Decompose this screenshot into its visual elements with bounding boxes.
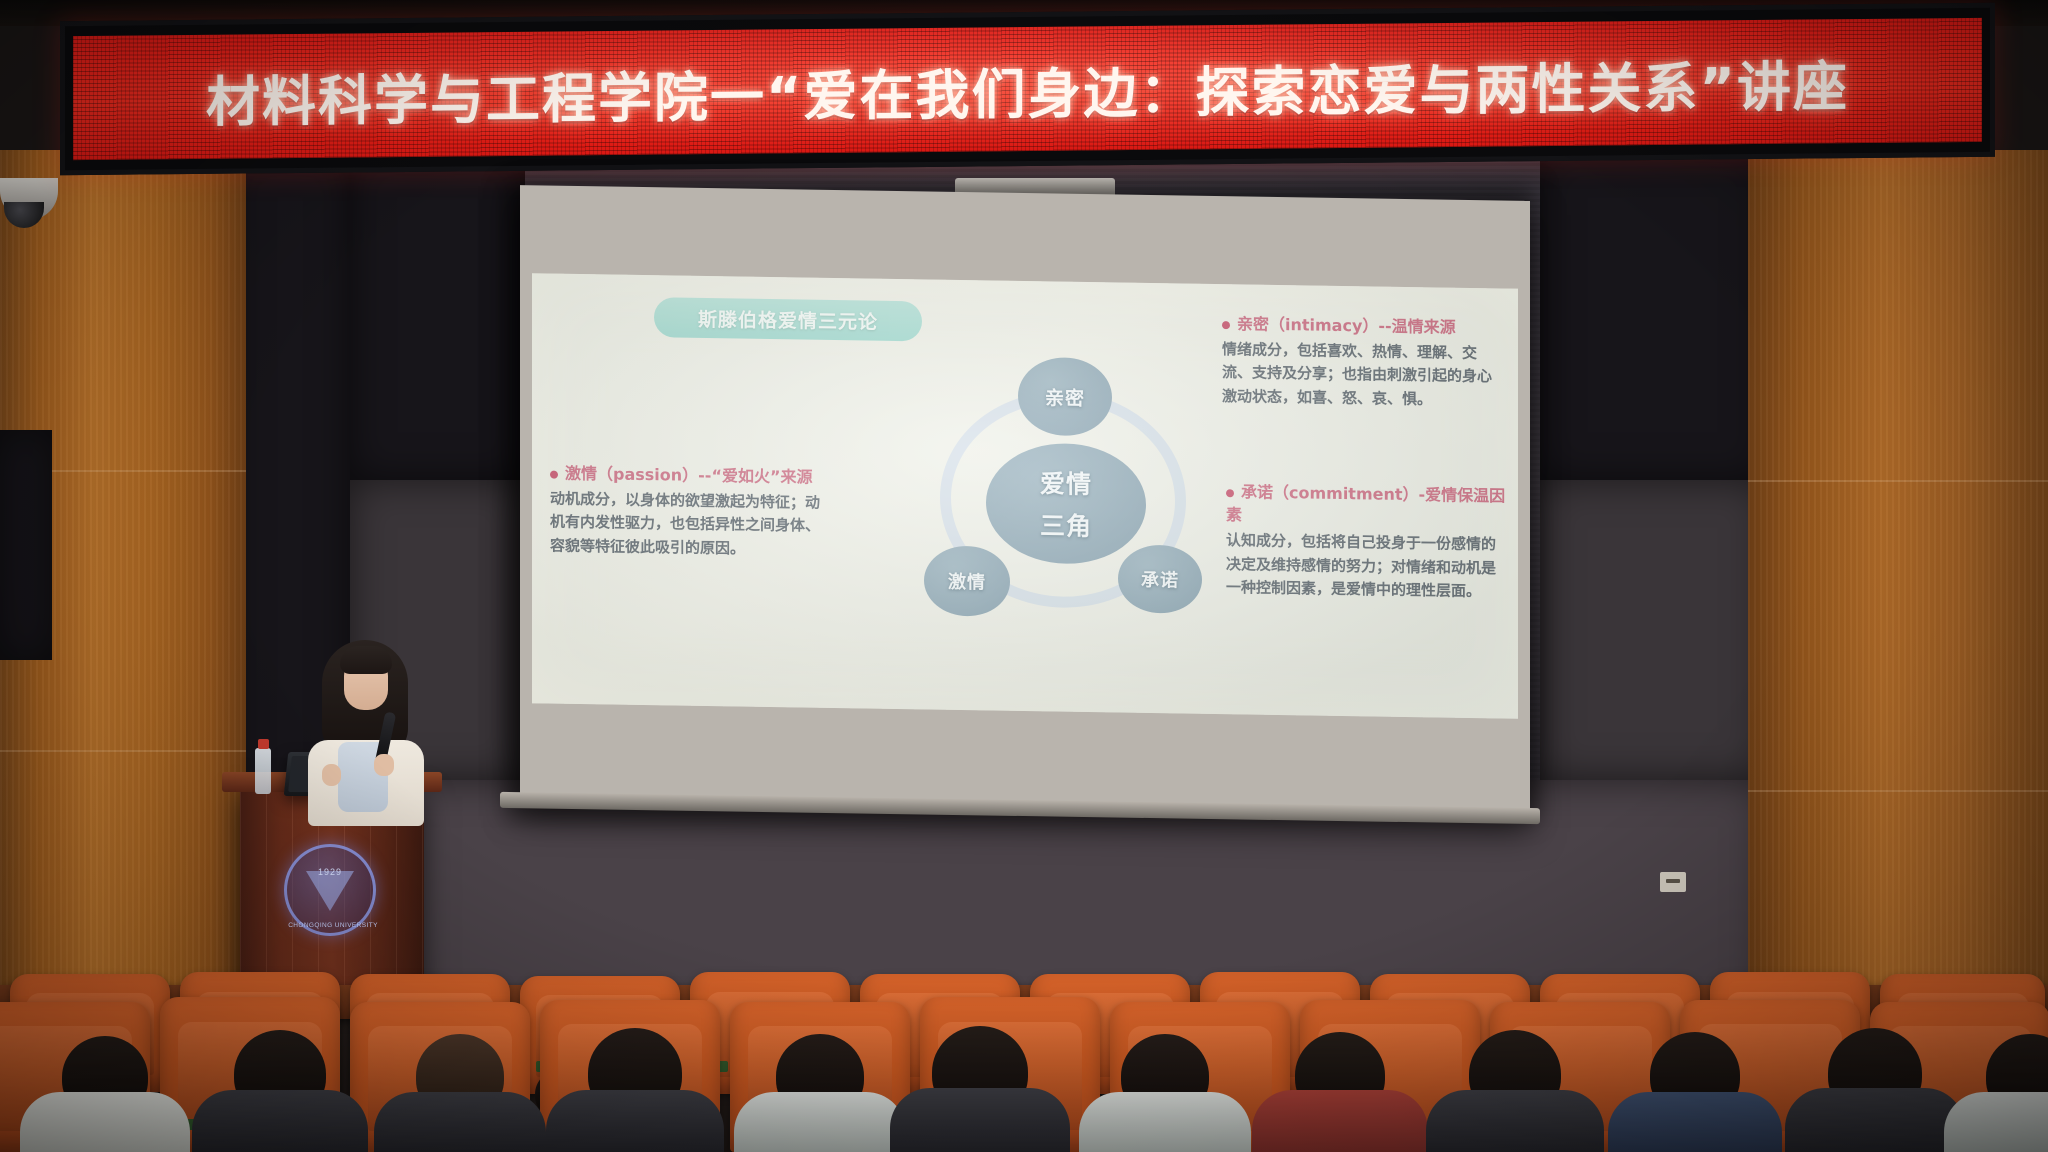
person-shoulders xyxy=(890,1088,1070,1152)
audience-member xyxy=(1440,1000,1590,1152)
slide-block-intimacy: 亲密（intimacy）--温情来源 情绪成分，包括喜欢、热情、理解、交流、支持… xyxy=(1222,312,1502,412)
person-shoulders xyxy=(1079,1092,1251,1152)
audience-member xyxy=(1265,1002,1415,1152)
presentation-slide: 斯滕伯格爱情三元论 爱情 三角 亲密 激情 承诺 亲密（intimacy）--温… xyxy=(532,273,1518,718)
university-emblem: 1929 CHONGQING UNIVERSITY xyxy=(284,844,376,936)
water-bottle xyxy=(255,748,271,794)
led-banner: 材料科学与工程学院一“爱在我们身边：探索恋爱与两性关系”讲座 xyxy=(60,3,1995,176)
audience-member xyxy=(385,1007,535,1152)
person-shoulders xyxy=(1785,1088,1965,1152)
block-body: 动机成分，以身体的欲望激起为特征；动机有内发性驱力，也包括异性之间身体、容貌等特… xyxy=(550,488,832,562)
diagram-node-commitment: 承诺 xyxy=(1118,544,1202,613)
diagram-center-line1: 爱情 xyxy=(1040,464,1092,501)
slide-block-passion: 激情（passion）--“爱如火”来源 动机成分，以身体的欲望激起为特征；动机… xyxy=(550,462,832,562)
person-shoulders xyxy=(20,1092,190,1152)
emblem-year: 1929 xyxy=(302,867,358,877)
love-triangle-diagram: 爱情 三角 亲密 激情 承诺 xyxy=(912,337,1212,642)
emblem-triangle-icon xyxy=(306,871,354,911)
block-body: 情绪成分，包括喜欢、热情、理解、交流、支持及分享；也指由刺激引起的身心激动状态，… xyxy=(1222,338,1502,412)
person-shoulders xyxy=(1944,1092,2048,1152)
emblem-inner: 1929 xyxy=(302,865,358,915)
slide-block-commitment: 承诺（commitment）-爱情保温因素 认知成分，包括将自己投身于一份感情的… xyxy=(1226,480,1506,604)
slide-title-text: 斯滕伯格爱情三元论 xyxy=(698,304,878,334)
projection-screen: 斯滕伯格爱情三元论 爱情 三角 亲密 激情 承诺 亲密（intimacy）--温… xyxy=(520,185,1530,818)
led-banner-screen: 材料科学与工程学院一“爱在我们身边：探索恋爱与两性关系”讲座 xyxy=(73,18,1982,160)
bullet-dot-icon xyxy=(550,470,558,478)
block-heading: 激情（passion）--“爱如火”来源 xyxy=(550,462,832,490)
wood-seam xyxy=(1748,480,2048,482)
wood-seam xyxy=(0,750,246,752)
bottle-cap xyxy=(258,739,269,749)
led-banner-text: 材料科学与工程学院一“爱在我们身边：探索恋爱与两性关系”讲座 xyxy=(206,42,1849,137)
person-shoulders xyxy=(1426,1090,1604,1152)
wood-wall-right xyxy=(1748,150,2048,1030)
audience-member xyxy=(905,997,1055,1152)
block-heading-text: 承诺（commitment）-爱情保温因素 xyxy=(1226,482,1505,524)
diagram-center-line2: 三角 xyxy=(1040,506,1092,543)
audience-member xyxy=(1090,1004,1240,1152)
audience-member xyxy=(30,1012,180,1152)
speaker-hand-left xyxy=(322,764,341,786)
acoustic-panel xyxy=(1540,150,1765,480)
person-shoulders xyxy=(192,1090,368,1152)
speaker-fringe xyxy=(340,646,392,674)
block-heading: 承诺（commitment）-爱情保温因素 xyxy=(1226,480,1506,531)
audience-member xyxy=(560,1000,710,1152)
block-heading-text: 激情（passion）--“爱如火”来源 xyxy=(565,464,812,487)
lecture-hall-scene: 材料科学与工程学院一“爱在我们身边：探索恋爱与两性关系”讲座 斯滕伯格爱情三元论… xyxy=(0,0,2048,1152)
emblem-english-label: CHONGQING UNIVERSITY xyxy=(287,922,379,929)
wood-seam xyxy=(1748,790,2048,792)
person-shoulders xyxy=(734,1092,906,1152)
diagram-node-passion: 激情 xyxy=(924,545,1010,616)
acoustic-panel-left-small xyxy=(0,430,52,660)
person-shoulders xyxy=(1252,1090,1428,1152)
bullet-dot-icon xyxy=(1226,489,1234,497)
audience-member xyxy=(1620,1004,1770,1152)
bullet-dot-icon xyxy=(1222,321,1230,329)
block-heading: 亲密（intimacy）--温情来源 xyxy=(1222,312,1502,340)
block-body: 认知成分，包括将自己投身于一份感情的决定及维持感情的努力；对情绪和动机是一种控制… xyxy=(1226,530,1506,604)
acoustic-panel xyxy=(1540,480,1765,780)
speaker-hand-right xyxy=(374,754,394,776)
speaker-person xyxy=(300,636,430,816)
block-heading-text: 亲密（intimacy）--温情来源 xyxy=(1237,314,1456,336)
person-shoulders xyxy=(546,1090,724,1152)
acoustic-panel xyxy=(350,150,525,480)
person-shoulders xyxy=(1608,1092,1782,1152)
diagram-node-intimacy: 亲密 xyxy=(1018,357,1112,436)
audience-member xyxy=(1955,1006,2048,1152)
slide-title-pill: 斯滕伯格爱情三元论 xyxy=(654,297,922,341)
person-shoulders xyxy=(374,1092,546,1152)
audience-member xyxy=(205,1002,355,1152)
wall-socket xyxy=(1660,872,1686,892)
audience-member xyxy=(745,1006,895,1152)
audience-member xyxy=(1800,998,1950,1152)
